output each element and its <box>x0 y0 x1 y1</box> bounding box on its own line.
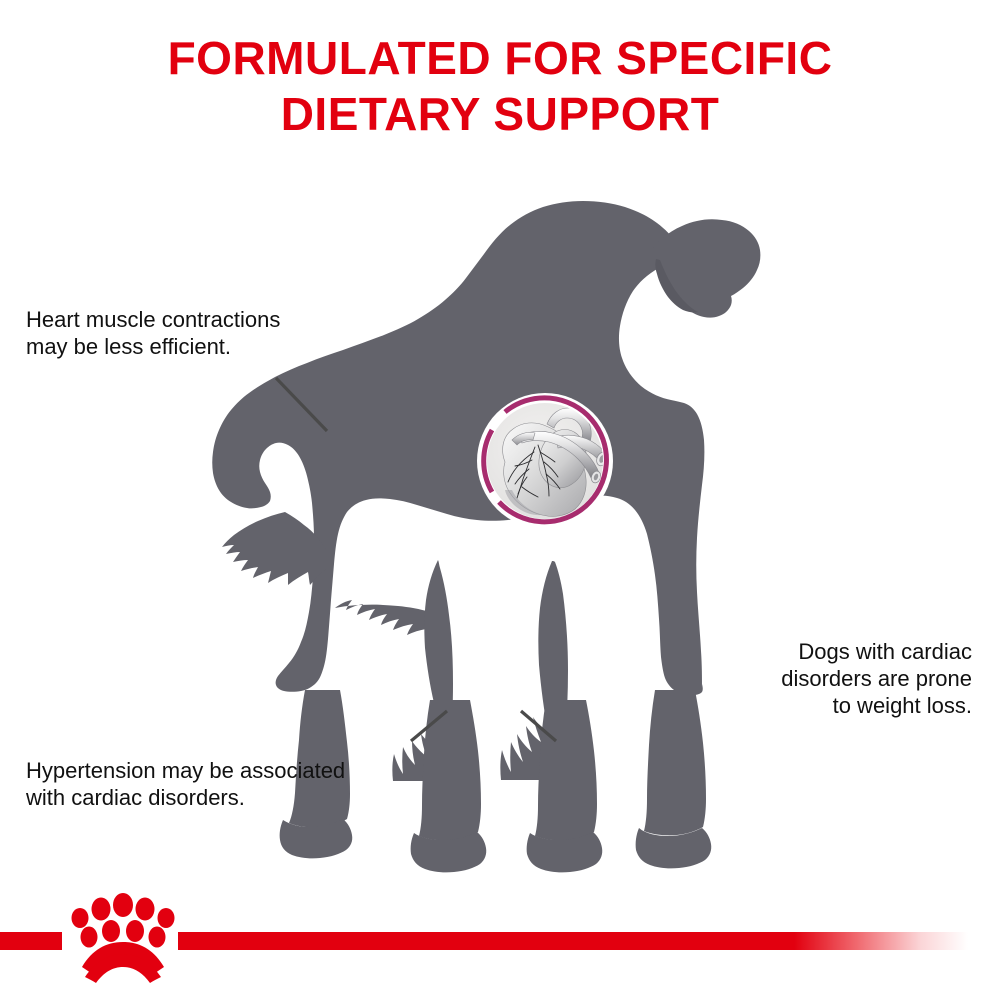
callout-heart-efficiency: Heart muscle contractions may be less ef… <box>26 306 446 360</box>
connector-line-heart <box>28 378 327 431</box>
connector-lines <box>0 0 1000 1000</box>
connector-line-hypertension <box>28 711 447 741</box>
callout-hypertension: Hypertension may be associated with card… <box>26 757 486 811</box>
royal-canin-logo-icon <box>72 893 175 983</box>
footer-bar-right <box>178 932 968 950</box>
footer-brand-bar <box>0 880 1000 1000</box>
footer-bar-left <box>0 932 62 950</box>
callout-weight-loss: Dogs with cardiac disorders are prone to… <box>660 638 972 719</box>
poster-canvas: FORMULATED FOR SPECIFIC DIETARY SUPPORT <box>0 0 1000 1000</box>
